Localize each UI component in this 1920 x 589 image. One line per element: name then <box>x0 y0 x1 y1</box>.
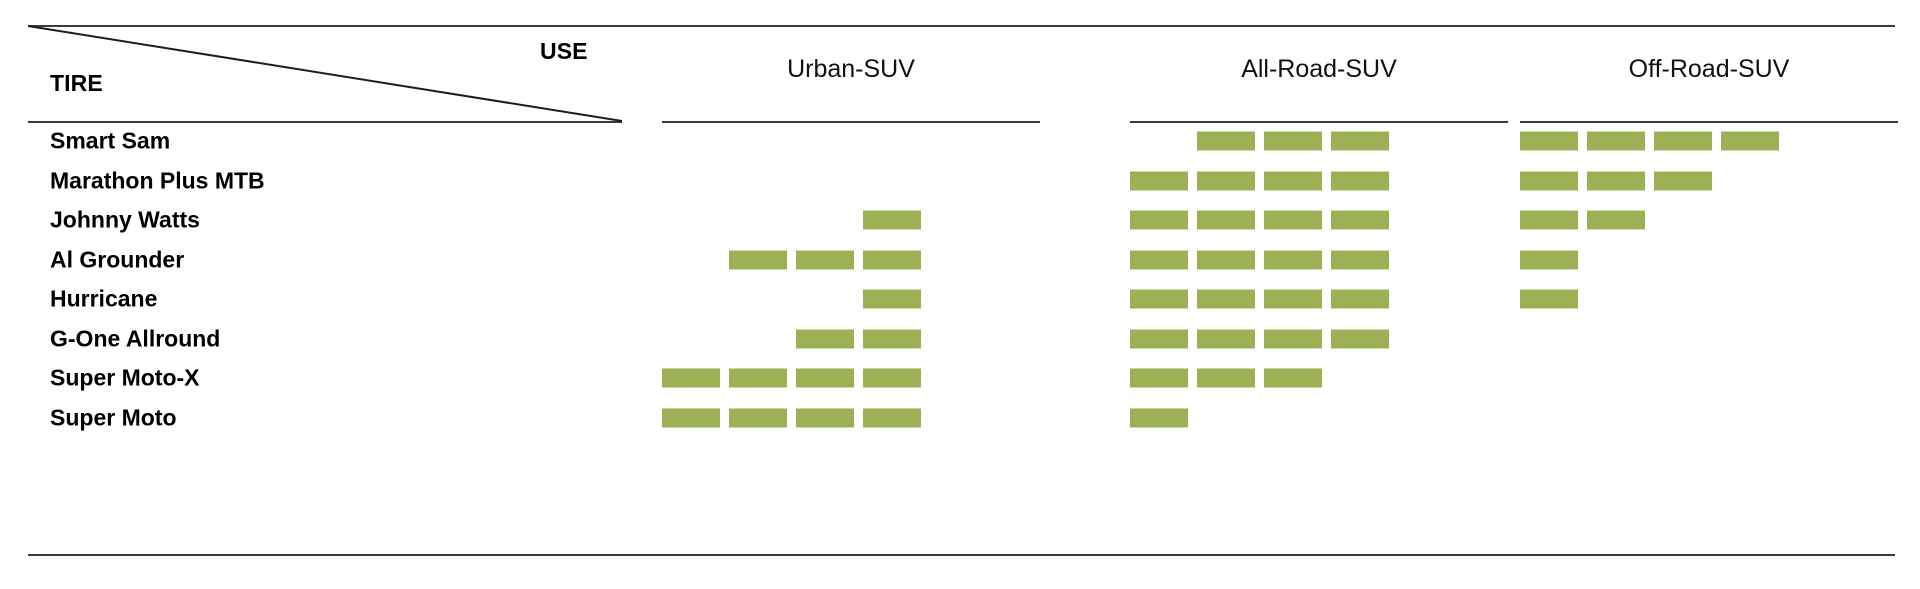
rating-bar <box>1264 250 1322 269</box>
column-header-rule-off-road-suv <box>1520 121 1898 123</box>
rating-bar <box>729 250 787 269</box>
row-label-hurricane: Hurricane <box>50 286 157 313</box>
column-header-rule-urban-suv <box>662 121 1040 123</box>
rating-bar <box>796 369 854 388</box>
row-label-super-moto-x: Super Moto-X <box>50 365 200 392</box>
row-label-marathon-plus-mtb: Marathon Plus MTB <box>50 167 265 194</box>
rating-bar <box>1264 132 1322 151</box>
column-header-all-road-suv: All-Road-SUV <box>1130 55 1508 84</box>
rating-bar <box>796 329 854 348</box>
rating-bar <box>1520 290 1578 309</box>
rating-bar <box>863 211 921 230</box>
rating-bar <box>1721 132 1779 151</box>
rating-bar <box>1331 171 1389 190</box>
rating-bar <box>1130 211 1188 230</box>
rating-bar <box>1264 211 1322 230</box>
rating-bar <box>1130 171 1188 190</box>
rating-bar <box>1130 408 1188 427</box>
rating-bar <box>1197 171 1255 190</box>
rating-bar <box>1197 290 1255 309</box>
rating-bar <box>662 369 720 388</box>
rating-bar <box>729 408 787 427</box>
rating-bar <box>1331 329 1389 348</box>
row-axis-label: TIRE <box>50 70 103 97</box>
rating-bar <box>1264 171 1322 190</box>
rating-bar <box>729 369 787 388</box>
corner-bottom-rule <box>28 121 622 123</box>
rating-bar <box>1331 250 1389 269</box>
table-bottom-rule <box>28 554 1895 556</box>
rating-bar <box>863 369 921 388</box>
rating-bar <box>1520 171 1578 190</box>
rating-bar <box>796 250 854 269</box>
rating-bar <box>1130 250 1188 269</box>
rating-bar <box>1197 329 1255 348</box>
rating-bar <box>1264 329 1322 348</box>
rating-bar <box>1197 132 1255 151</box>
table-top-rule <box>28 25 1895 27</box>
rating-bar <box>1197 250 1255 269</box>
rating-bar <box>1654 171 1712 190</box>
rating-bar <box>1587 171 1645 190</box>
rating-bar <box>1331 132 1389 151</box>
row-label-al-grounder: Al Grounder <box>50 246 184 273</box>
row-label-smart-sam: Smart Sam <box>50 128 170 155</box>
rating-bar <box>1654 132 1712 151</box>
rating-bar <box>863 250 921 269</box>
row-label-g-one-allround: G-One Allround <box>50 325 220 352</box>
rating-bar <box>863 408 921 427</box>
corner-diagonal-icon <box>28 25 622 122</box>
rating-bar <box>1331 211 1389 230</box>
rating-bar <box>1197 211 1255 230</box>
rating-bar <box>662 408 720 427</box>
rating-bar <box>1264 290 1322 309</box>
rating-bar <box>1130 329 1188 348</box>
tire-use-matrix: USE TIRE Urban-SUVAll-Road-SUVOff-Road-S… <box>0 0 1920 589</box>
column-header-rule-all-road-suv <box>1130 121 1508 123</box>
column-header-urban-suv: Urban-SUV <box>662 55 1040 84</box>
rating-bar <box>1130 290 1188 309</box>
row-label-super-moto: Super Moto <box>50 404 177 431</box>
rating-bar <box>1520 132 1578 151</box>
rating-bar <box>1587 211 1645 230</box>
rating-bar <box>1197 369 1255 388</box>
rating-bar <box>796 408 854 427</box>
rating-bar <box>1130 369 1188 388</box>
rating-bar <box>1264 369 1322 388</box>
rating-bar <box>863 290 921 309</box>
rating-bar <box>1587 132 1645 151</box>
column-header-off-road-suv: Off-Road-SUV <box>1520 55 1898 84</box>
row-label-johnny-watts: Johnny Watts <box>50 207 200 234</box>
rating-bar <box>1520 211 1578 230</box>
rating-bar <box>1331 290 1389 309</box>
rating-bar <box>863 329 921 348</box>
rating-bar <box>1520 250 1578 269</box>
column-axis-label: USE <box>540 38 588 65</box>
